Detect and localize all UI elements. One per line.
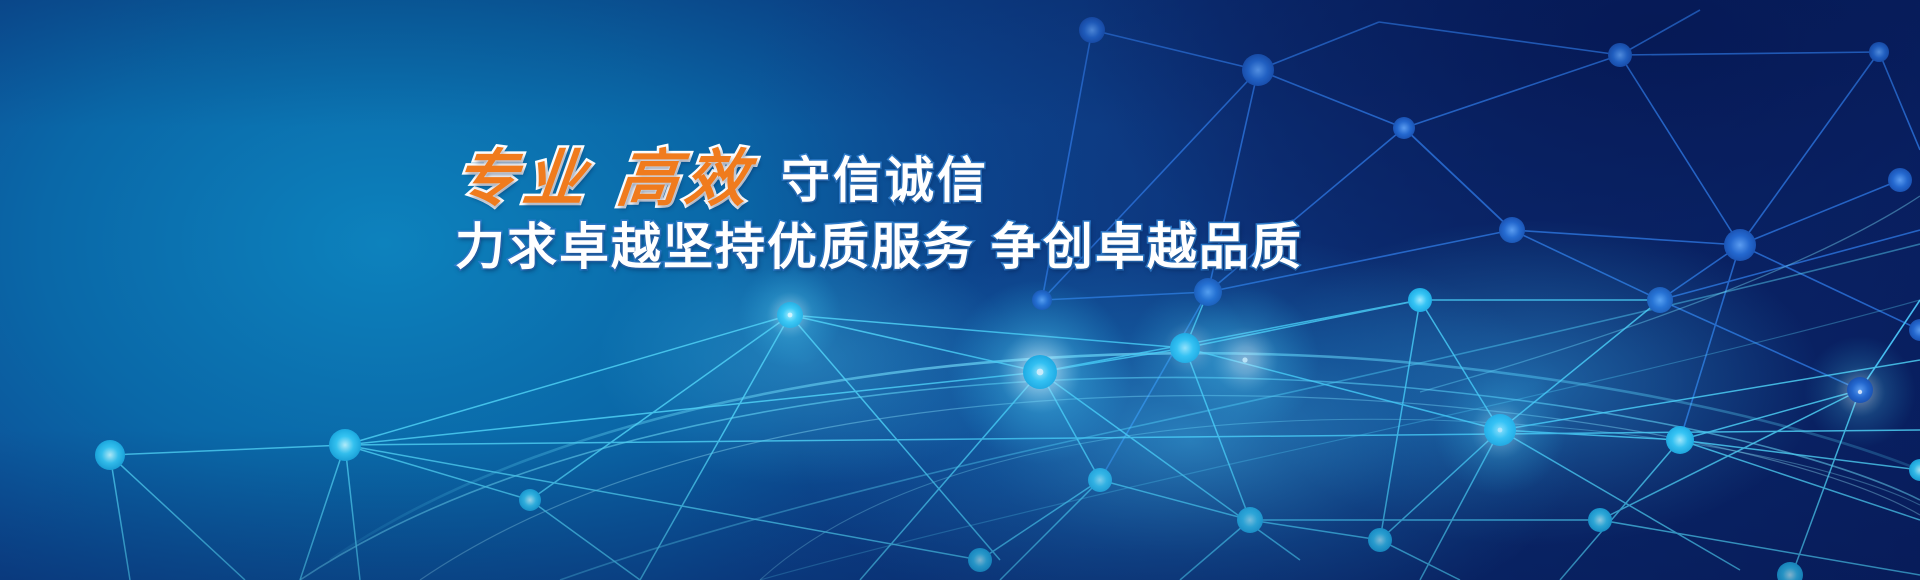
vignette-overlay [0,0,1920,580]
headline-line-1: 专业高效 守信诚信 [455,138,1920,210]
headline-block: 专业高效 守信诚信 力求卓越坚持优质服务 争创卓越品质 [0,138,1920,277]
headline-accent-professional: 专业高效 [452,148,769,210]
promo-banner: 专业高效 守信诚信 力求卓越坚持优质服务 争创卓越品质 [0,0,1920,580]
headline-subtext-integrity: 守信诚信 [781,157,989,206]
headline-line-2: 力求卓越坚持优质服务 争创卓越品质 [455,218,1920,277]
